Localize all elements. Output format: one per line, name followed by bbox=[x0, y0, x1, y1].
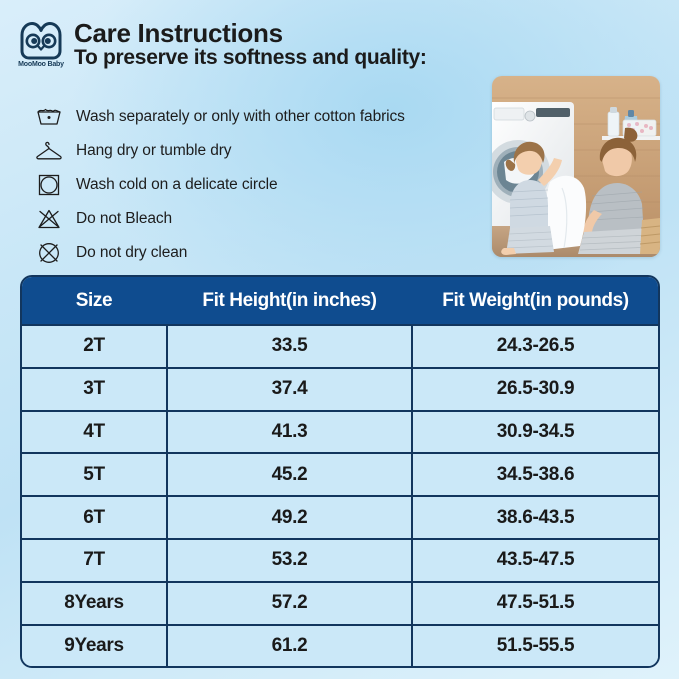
table-header-row: Size Fit Height(in inches) Fit Weight(in… bbox=[22, 277, 658, 324]
table-row: 7T 53.2 43.5-47.5 bbox=[22, 538, 658, 581]
care-instruction-list: Wash separately or only with other cotto… bbox=[22, 100, 492, 270]
care-label: Do not Bleach bbox=[76, 210, 172, 228]
care-row: Wash cold on a delicate circle bbox=[22, 168, 492, 202]
cell-height: 61.2 bbox=[168, 624, 413, 667]
page-title: Care Instructions bbox=[74, 19, 427, 47]
care-instructions-page: MooMoo Baby Care Instructions To preserv… bbox=[0, 0, 679, 679]
table-row: 2T 33.5 24.3-26.5 bbox=[22, 324, 658, 367]
care-label: Wash separately or only with other cotto… bbox=[76, 108, 405, 126]
cell-height: 53.2 bbox=[168, 538, 413, 581]
header-titles: Care Instructions To preserve its softne… bbox=[70, 18, 427, 70]
cell-weight: 38.6-43.5 bbox=[413, 495, 658, 538]
table-row: 4T 41.3 30.9-34.5 bbox=[22, 410, 658, 453]
cell-weight: 24.3-26.5 bbox=[413, 324, 658, 367]
cell-size: 4T bbox=[22, 410, 168, 453]
cell-size: 8Years bbox=[22, 581, 168, 624]
cell-size: 5T bbox=[22, 452, 168, 495]
do-not-bleach-icon bbox=[22, 205, 76, 233]
cell-height: 57.2 bbox=[168, 581, 413, 624]
cell-height: 49.2 bbox=[168, 495, 413, 538]
column-header-size: Size bbox=[22, 277, 168, 324]
cell-weight: 51.5-55.5 bbox=[413, 624, 658, 667]
cell-weight: 30.9-34.5 bbox=[413, 410, 658, 453]
column-header-weight: Fit Weight(in pounds) bbox=[413, 277, 658, 324]
table-row: 9Years 61.2 51.5-55.5 bbox=[22, 624, 658, 667]
cell-size: 2T bbox=[22, 324, 168, 367]
cell-size: 3T bbox=[22, 367, 168, 410]
wash-tub-icon bbox=[22, 103, 76, 131]
owl-face-icon bbox=[18, 22, 64, 60]
care-label: Hang dry or tumble dry bbox=[76, 142, 231, 160]
brand-logo: MooMoo Baby bbox=[12, 18, 70, 68]
care-row: Wash separately or only with other cotto… bbox=[22, 100, 492, 134]
cell-size: 6T bbox=[22, 495, 168, 538]
care-label: Wash cold on a delicate circle bbox=[76, 176, 277, 194]
size-chart-table: Size Fit Height(in inches) Fit Weight(in… bbox=[20, 275, 660, 668]
cell-height: 33.5 bbox=[168, 324, 413, 367]
cell-weight: 43.5-47.5 bbox=[413, 538, 658, 581]
cell-height: 37.4 bbox=[168, 367, 413, 410]
table-row: 8Years 57.2 47.5-51.5 bbox=[22, 581, 658, 624]
column-header-height: Fit Height(in inches) bbox=[168, 277, 413, 324]
cell-weight: 26.5-30.9 bbox=[413, 367, 658, 410]
do-not-dry-clean-icon bbox=[22, 239, 76, 267]
cell-size: 9Years bbox=[22, 624, 168, 667]
cell-weight: 47.5-51.5 bbox=[413, 581, 658, 624]
care-row: Hang dry or tumble dry bbox=[22, 134, 492, 168]
table-row: 5T 45.2 34.5-38.6 bbox=[22, 452, 658, 495]
page-header: MooMoo Baby Care Instructions To preserv… bbox=[12, 18, 492, 80]
tumble-dry-icon bbox=[22, 171, 76, 199]
cell-size: 7T bbox=[22, 538, 168, 581]
brand-name: MooMoo Baby bbox=[18, 61, 64, 68]
table-row: 6T 49.2 38.6-43.5 bbox=[22, 495, 658, 538]
cell-height: 45.2 bbox=[168, 452, 413, 495]
cell-height: 41.3 bbox=[168, 410, 413, 453]
hanger-icon bbox=[22, 137, 76, 165]
care-label: Do not dry clean bbox=[76, 244, 187, 262]
page-subtitle: To preserve its softness and quality: bbox=[74, 46, 427, 70]
care-row: Do not dry clean bbox=[22, 236, 492, 270]
table-row: 3T 37.4 26.5-30.9 bbox=[22, 367, 658, 410]
cell-weight: 34.5-38.6 bbox=[413, 452, 658, 495]
care-row: Do not Bleach bbox=[22, 202, 492, 236]
laundry-photo bbox=[492, 76, 660, 257]
